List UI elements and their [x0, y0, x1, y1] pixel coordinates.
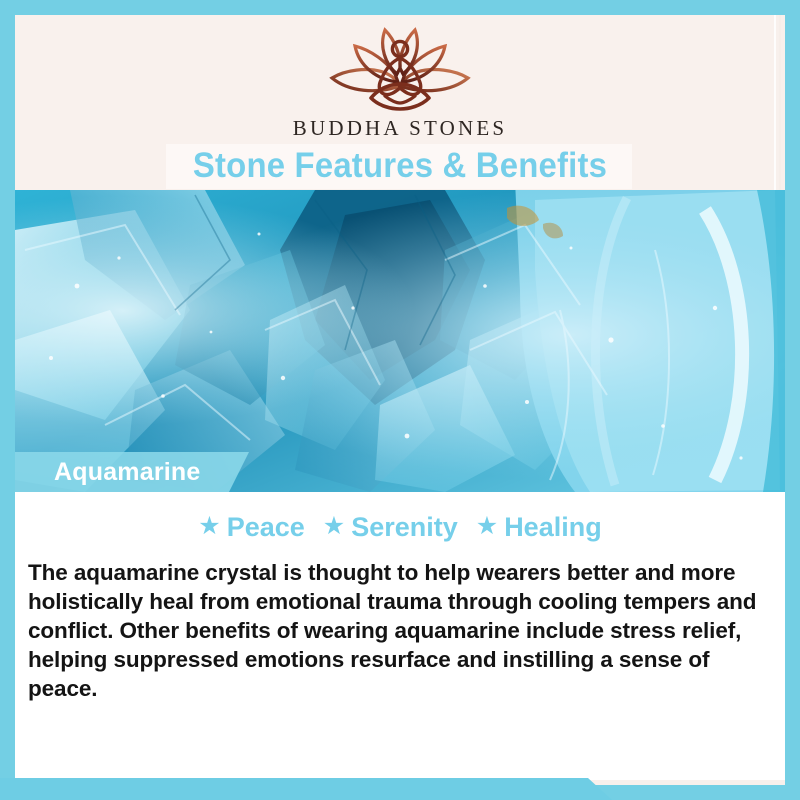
keyword-label: Serenity — [351, 512, 458, 542]
hero-crystal-image — [15, 190, 785, 492]
star-icon: ★ — [198, 514, 220, 539]
keyword-label: Peace — [227, 512, 305, 542]
keyword-item-peace: ★ Peace — [198, 512, 305, 542]
keyword-item-healing: ★ Healing — [476, 512, 602, 542]
lotus-meditation-icon — [305, 22, 495, 114]
keyword-list: ★ Peace ★ Serenity ★ Healing — [0, 512, 800, 542]
star-icon: ★ — [476, 514, 498, 539]
page-title: Stone Features & Benefits — [24, 145, 776, 187]
description-text: The aquamarine crystal is thought to hel… — [28, 558, 770, 703]
aquamarine-crystal-illustration — [15, 190, 785, 492]
stone-label: Aquamarine — [54, 456, 200, 488]
bottom-blue-band — [0, 778, 612, 800]
brand-wordmark: BUDDHA STONES — [0, 116, 800, 141]
keyword-item-serenity: ★ Serenity — [323, 512, 458, 542]
keyword-label: Healing — [504, 512, 602, 542]
poster-card: BUDDHA STONES Stone Features & Benefits — [0, 0, 800, 800]
star-icon: ★ — [323, 514, 345, 539]
brand-logo-block: BUDDHA STONES — [0, 22, 800, 141]
